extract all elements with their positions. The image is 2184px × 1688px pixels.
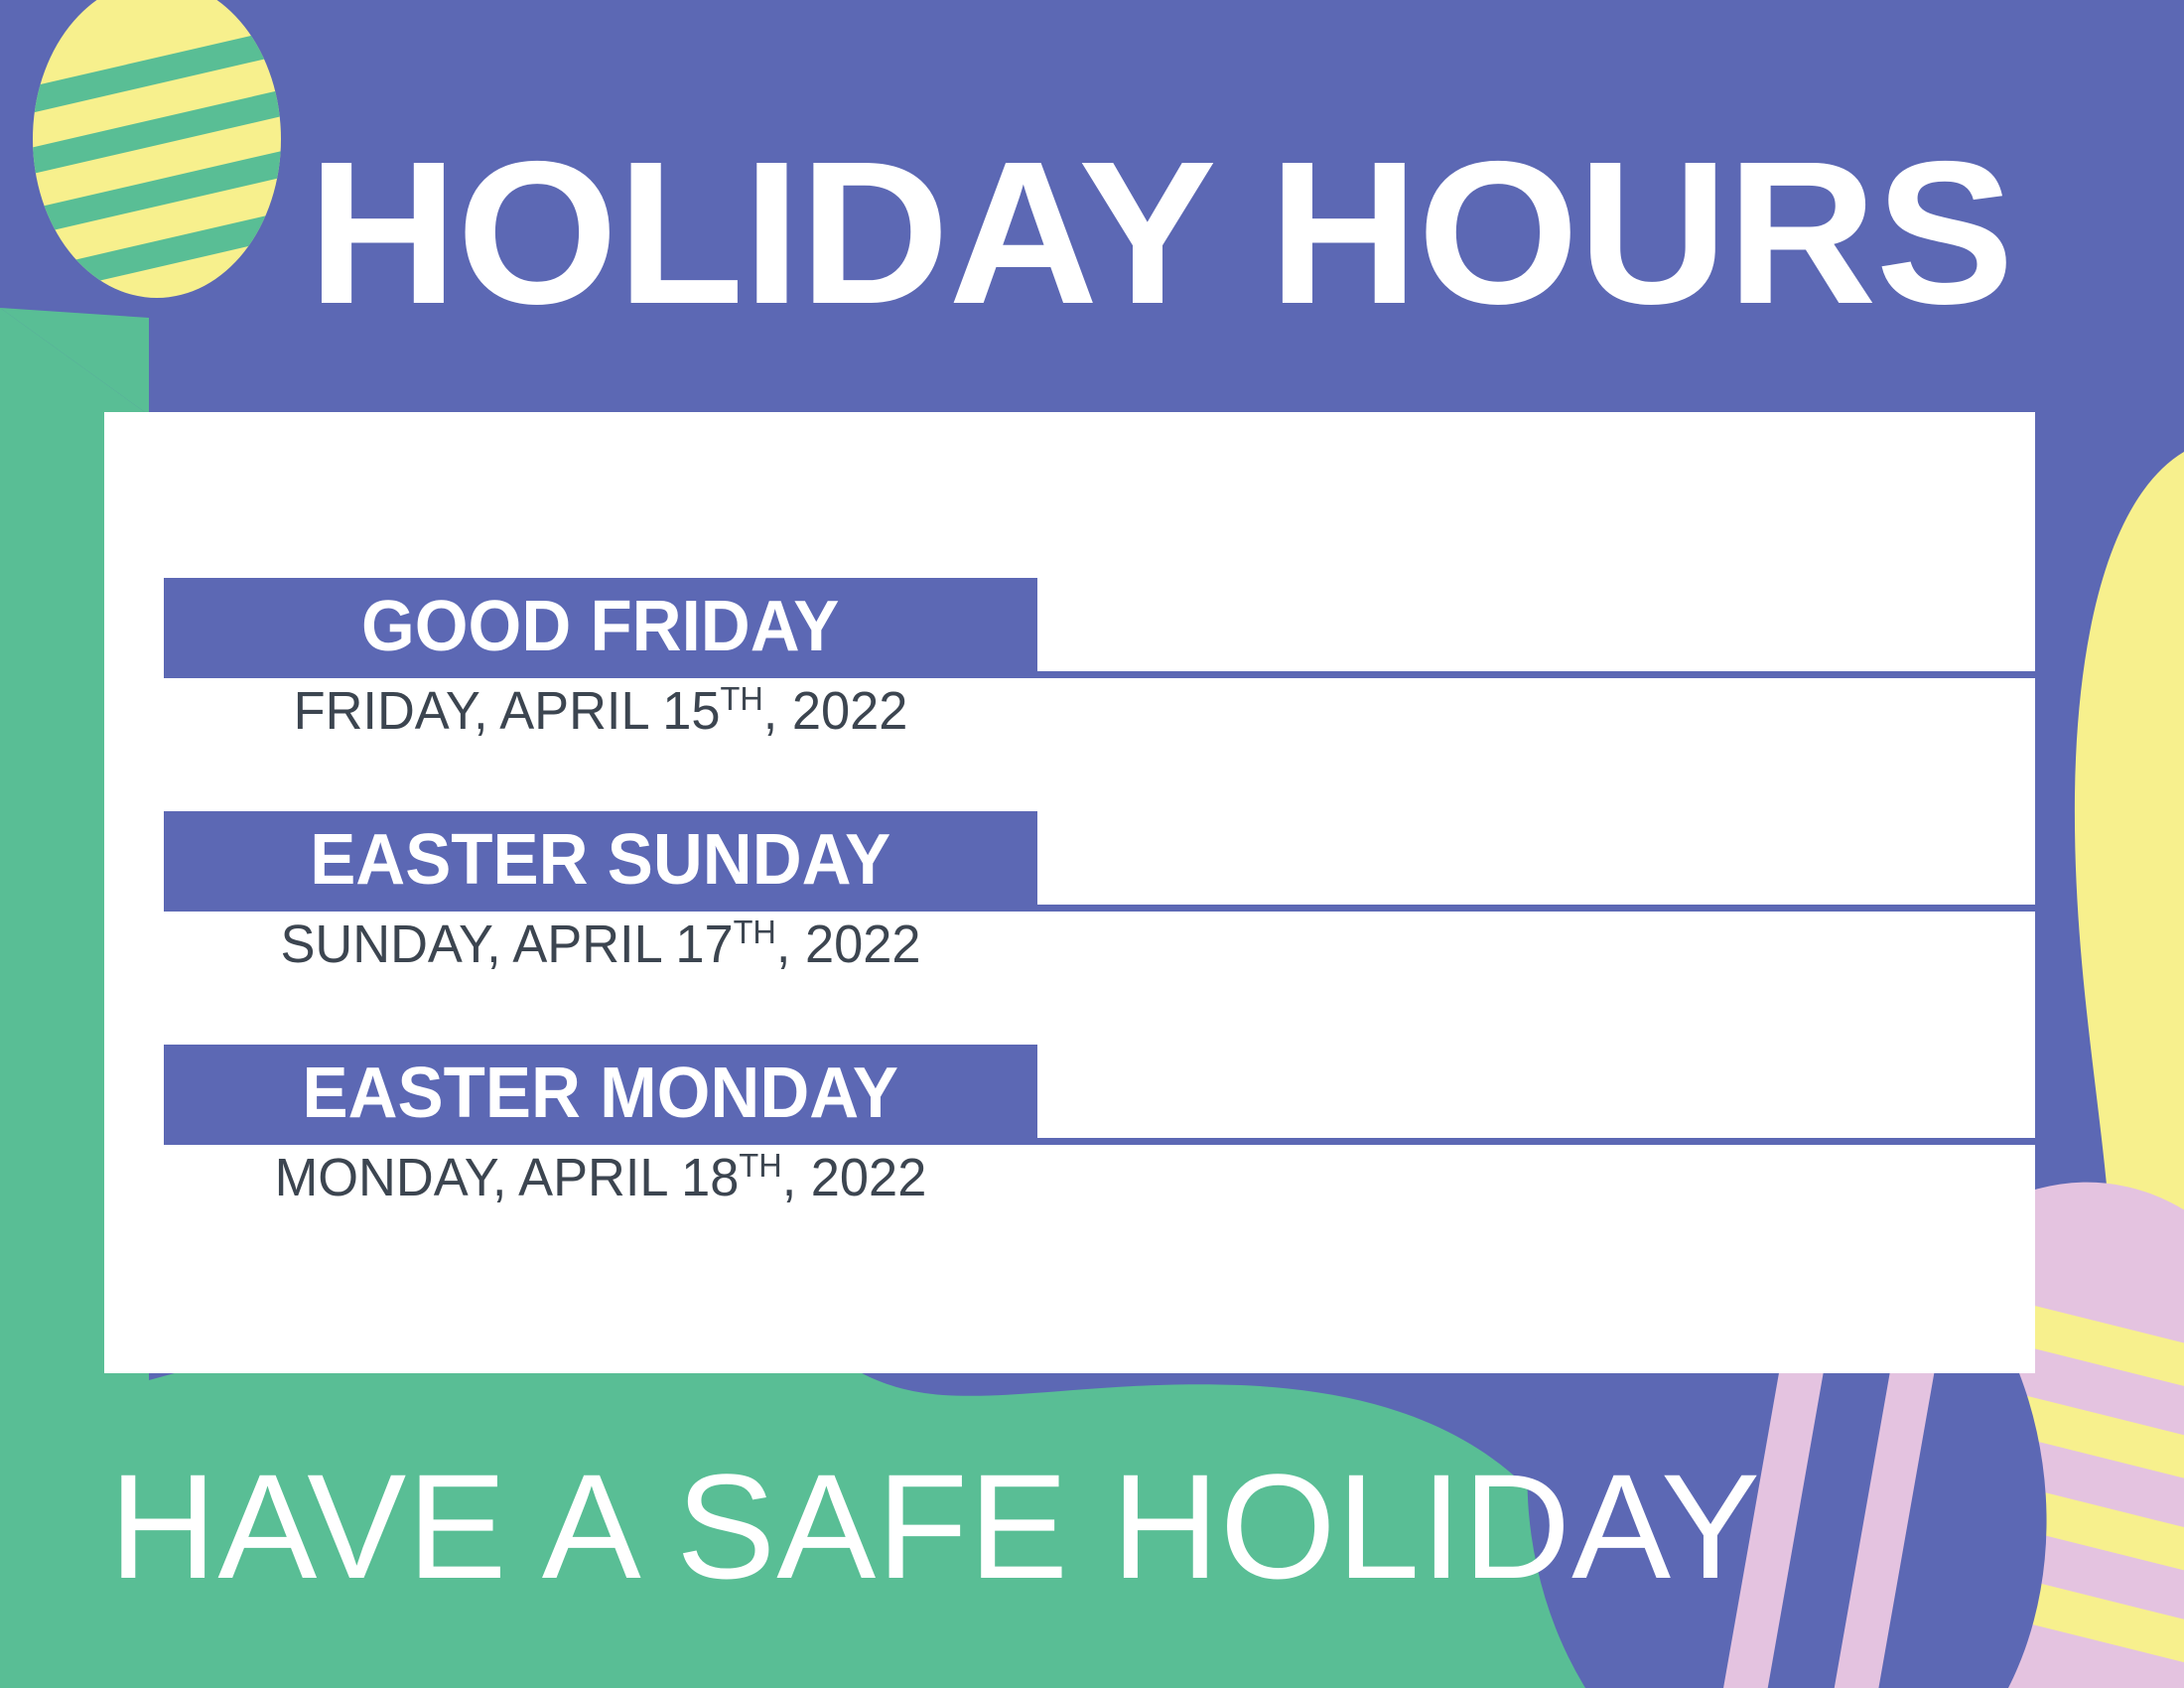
holiday-date: SUNDAY, APRIL 17TH, 2022 <box>177 916 1024 973</box>
holiday-date-suffix: , 2022 <box>782 1148 927 1207</box>
holiday-name: EASTER MONDAY <box>303 1057 898 1129</box>
holiday-date: MONDAY, APRIL 18TH, 2022 <box>177 1150 1024 1206</box>
hours-write-in-line[interactable] <box>1037 905 2040 912</box>
holiday-name-bar: GOOD FRIDAY <box>164 578 1037 678</box>
holiday-name: GOOD FRIDAY <box>361 591 839 662</box>
holiday-date-ordinal: TH <box>739 1148 781 1185</box>
holiday-date-prefix: FRIDAY, APRIL 15 <box>294 681 721 741</box>
holiday-date-prefix: SUNDAY, APRIL 17 <box>280 914 733 974</box>
holiday-hours-poster: HOLIDAY HOURS GOOD FRIDAY FRIDAY, APRIL … <box>0 0 2184 1688</box>
holiday-date: FRIDAY, APRIL 15TH, 2022 <box>177 683 1024 740</box>
holiday-date-ordinal: TH <box>720 681 762 718</box>
holiday-name: EASTER SUNDAY <box>310 824 890 896</box>
holiday-name-bar: EASTER MONDAY <box>164 1045 1037 1145</box>
holiday-date-ordinal: TH <box>734 914 776 951</box>
holiday-list: GOOD FRIDAY FRIDAY, APRIL 15TH, 2022 EAS… <box>0 0 2184 1688</box>
hours-write-in-line[interactable] <box>1037 1138 2040 1145</box>
holiday-name-bar: EASTER SUNDAY <box>164 811 1037 912</box>
holiday-date-suffix: , 2022 <box>763 681 908 741</box>
tagline: HAVE A SAFE HOLIDAY <box>109 1452 1761 1601</box>
holiday-date-suffix: , 2022 <box>776 914 921 974</box>
holiday-date-prefix: MONDAY, APRIL 18 <box>275 1148 740 1207</box>
hours-write-in-line[interactable] <box>1037 671 2040 678</box>
